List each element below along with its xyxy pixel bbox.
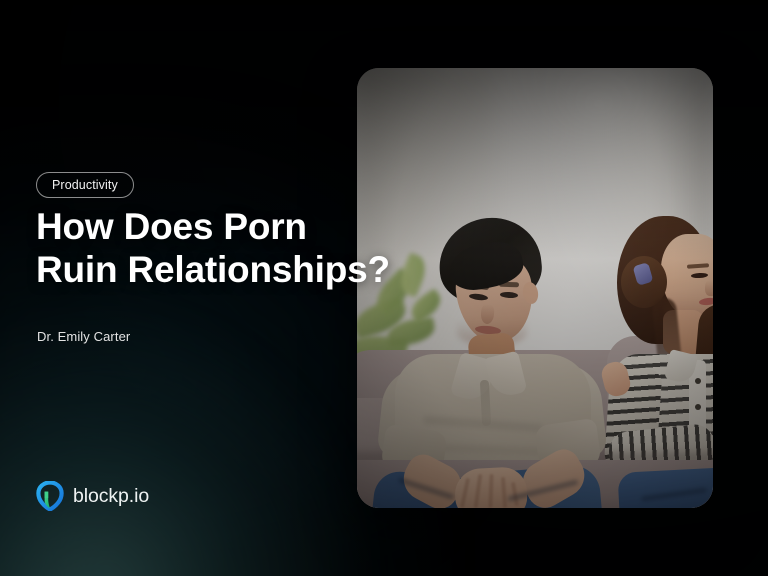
photo-woman-nose [705,280,713,296]
page-title: How Does Porn Ruin Relationships? [36,206,436,292]
text-column: Productivity How Does Porn Ruin Relation… [36,0,436,576]
author-byline: Dr. Emily Carter [37,329,130,344]
photo-woman-button [695,404,701,410]
blockp-shield-icon [36,481,64,511]
category-badge[interactable]: Productivity [36,172,134,198]
category-badge-label: Productivity [52,178,118,192]
photo-woman-button [695,378,701,384]
page-title-line-1: How Does Porn [36,206,307,247]
brand-logo[interactable]: blockp.io [36,481,149,511]
slide-canvas: Productivity How Does Porn Ruin Relation… [0,0,768,576]
page-title-line-2: Ruin Relationships? [36,249,436,292]
brand-wordmark: blockp.io [73,485,149,508]
